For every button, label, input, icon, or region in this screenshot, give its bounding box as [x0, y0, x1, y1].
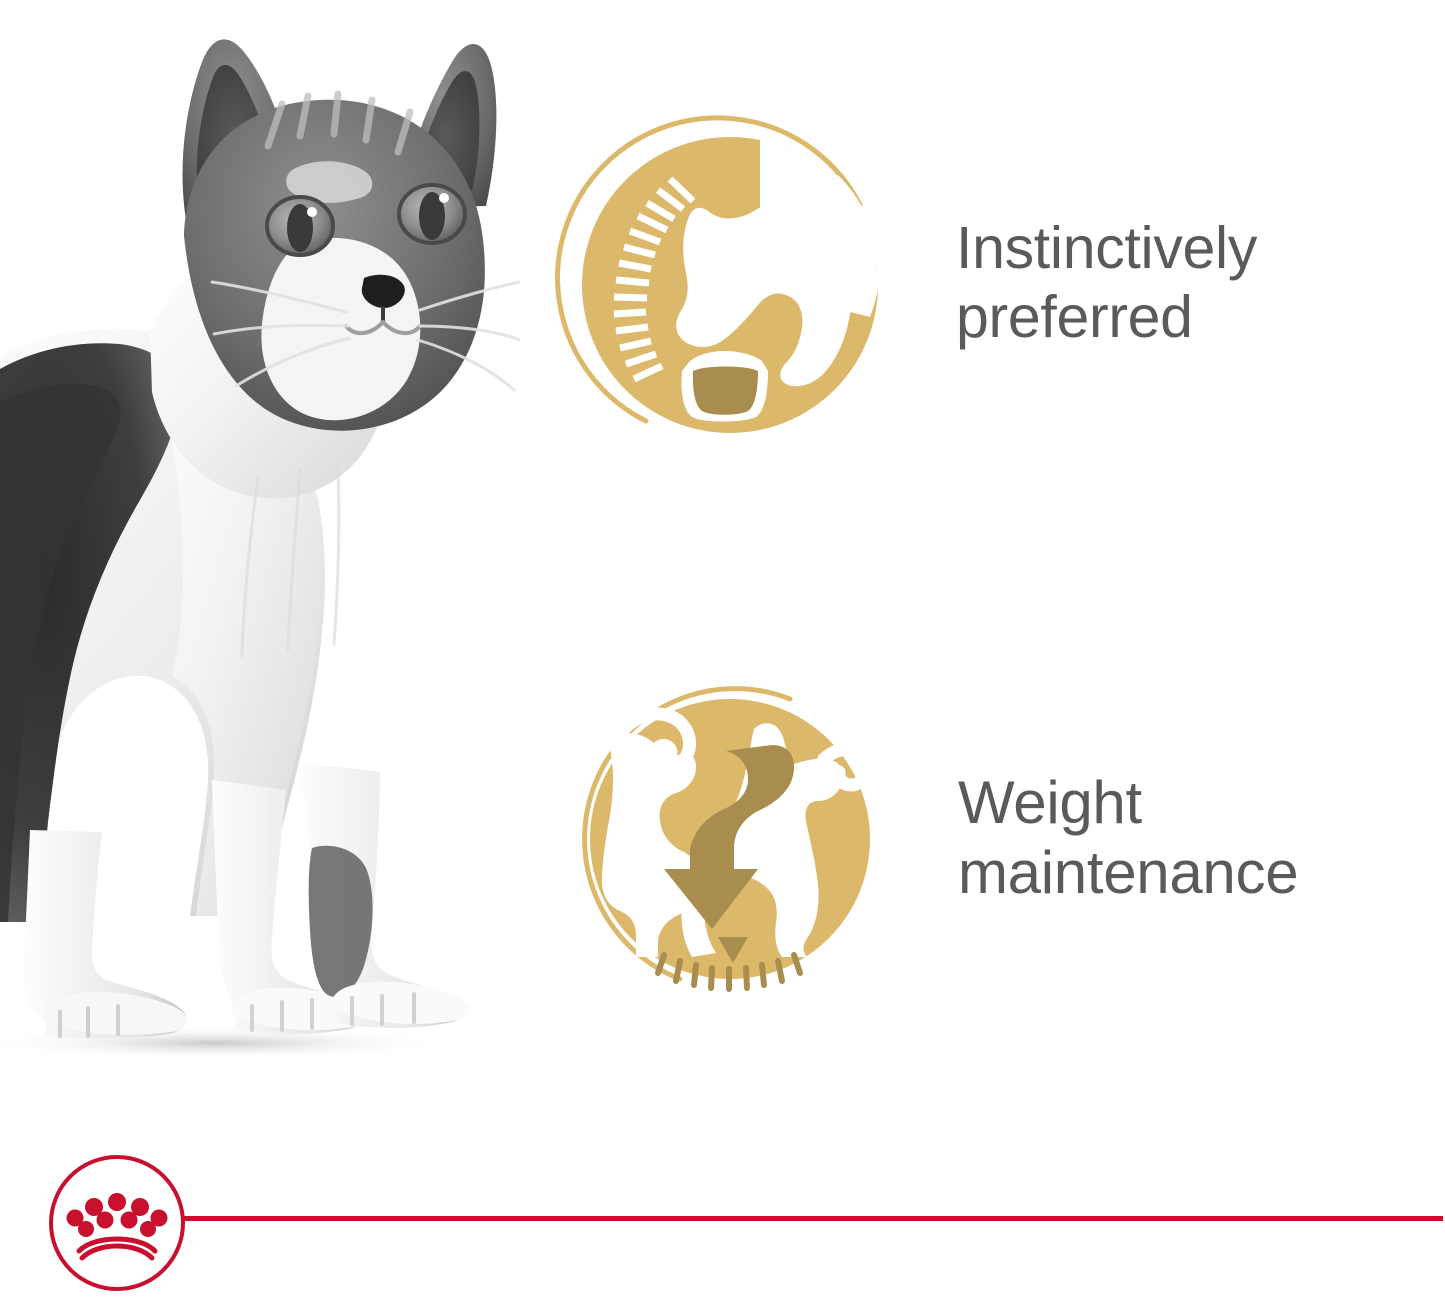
kitten-photo — [0, 0, 520, 1075]
product-benefits-panel: Instinctively preferred — [0, 0, 1445, 1300]
brand-divider-rule — [165, 1216, 1443, 1221]
two-cats-weight-scale-arrow-icon — [558, 673, 888, 1003]
benefit-item-weight-maintenance: Weight maintenance — [558, 668, 1445, 1008]
cat-eating-from-bowl-gauge-icon — [550, 109, 898, 457]
benefit-item-instinctively-preferred: Instinctively preferred — [550, 105, 1440, 460]
royal-canin-crown-logo — [46, 1152, 188, 1294]
benefit-label-weight-maintenance: Weight maintenance — [958, 768, 1445, 907]
benefit-label-instinctively-preferred: Instinctively preferred — [956, 214, 1440, 351]
